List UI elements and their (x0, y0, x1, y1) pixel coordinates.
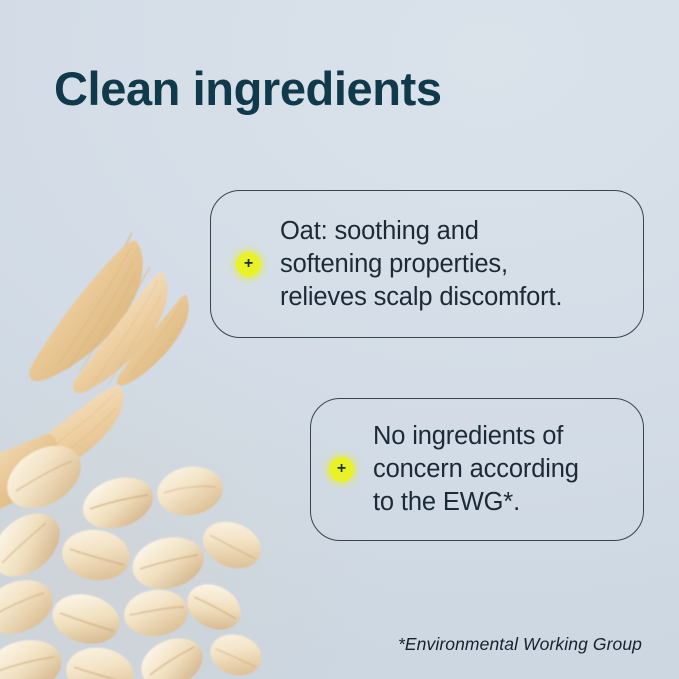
ingredient-card-text: Oat: soothing and softening properties, … (280, 215, 562, 314)
footnote-ewg-definition: *Environmental Working Group (398, 634, 642, 655)
ingredient-card-oat: + Oat: soothing and softening properties… (210, 190, 644, 338)
ingredient-card-text: No ingredients of concern according to t… (373, 420, 579, 519)
page-title: Clean ingredients (54, 64, 442, 115)
ingredient-card-ewg: + No ingredients of concern according to… (310, 398, 644, 541)
product-ingredient-graphic: Clean ingredients + Oat: soothing and so… (0, 0, 679, 679)
plus-icon: + (329, 457, 354, 482)
plus-icon: + (236, 252, 261, 277)
